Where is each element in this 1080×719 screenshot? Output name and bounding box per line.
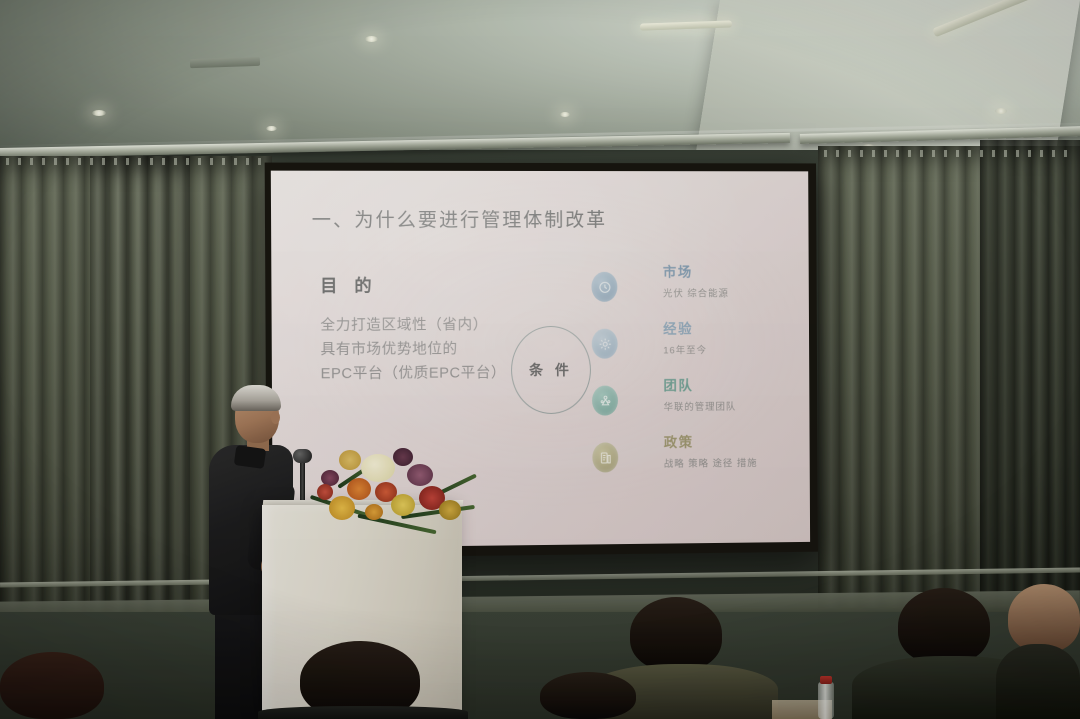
condition-subtitle: 16年至今	[663, 344, 707, 357]
condition-circle: 条 件	[511, 326, 591, 414]
speaker-collar	[234, 445, 266, 469]
curtain-far-right	[980, 140, 1080, 610]
speaker-legs	[215, 607, 269, 719]
audience-shoulders	[258, 706, 468, 719]
ceiling-downlight	[92, 110, 106, 116]
speaker-ear	[271, 411, 280, 424]
condition-title: 团队	[663, 377, 736, 395]
condition-text-team: 团队 华联的管理团队	[663, 377, 736, 414]
clock-icon	[591, 272, 617, 302]
condition-title: 政策	[664, 433, 758, 452]
curtain-hooks-left	[6, 158, 266, 165]
purpose-line-1: 全力打造区域性（省内）	[320, 313, 552, 338]
microphone-head	[293, 449, 312, 463]
audience-head	[0, 652, 104, 719]
speaker-hair	[231, 385, 281, 411]
condition-subtitle: 战略 策略 途径 措施	[664, 457, 758, 471]
audience-head-profile	[1008, 584, 1080, 652]
audience-head	[540, 672, 636, 719]
condition-item-policy: 政策 战略 策略 途径 措施	[592, 433, 800, 492]
water-bottle	[818, 682, 834, 719]
ceiling-downlight	[266, 126, 277, 131]
condition-text-experience: 经验 16年至今	[663, 320, 707, 357]
document-policy-icon	[592, 442, 618, 472]
condition-text-market: 市场 光伏 综合能源	[663, 264, 729, 301]
audience-shoulders	[996, 644, 1080, 719]
condition-subtitle: 华联的管理团队	[664, 401, 737, 414]
condition-item-market: 市场 光伏 综合能源	[591, 264, 799, 321]
condition-item-experience: 经验 16年至今	[592, 320, 800, 378]
condition-title: 经验	[663, 320, 707, 338]
gear-network-icon	[592, 329, 618, 359]
condition-list: 市场 光伏 综合能源 经验 16年至今	[591, 264, 800, 492]
curtain-hooks-right	[824, 150, 1074, 157]
condition-text-policy: 政策 战略 策略 途径 措施	[664, 433, 758, 471]
ceiling-downlight	[365, 36, 378, 42]
ceiling-downlight	[995, 108, 1007, 114]
purpose-heading: 目 的	[320, 271, 378, 296]
condition-subtitle: 光伏 综合能源	[663, 287, 729, 300]
floral-arrangement	[315, 448, 475, 543]
people-group-icon	[592, 386, 618, 416]
slide-title: 一、为什么要进行管理体制改革	[312, 205, 607, 232]
bottle-cap	[820, 676, 832, 684]
condition-item-team: 团队 华联的管理团队	[592, 376, 800, 434]
presentation-room-photo: 一、为什么要进行管理体制改革 目 的 全力打造区域性（省内） 具有市场优势地位的…	[0, 0, 1080, 719]
condition-title: 市场	[663, 264, 729, 282]
ceiling-downlight	[560, 112, 570, 117]
audience-head	[630, 597, 722, 671]
audience-head	[898, 588, 990, 664]
